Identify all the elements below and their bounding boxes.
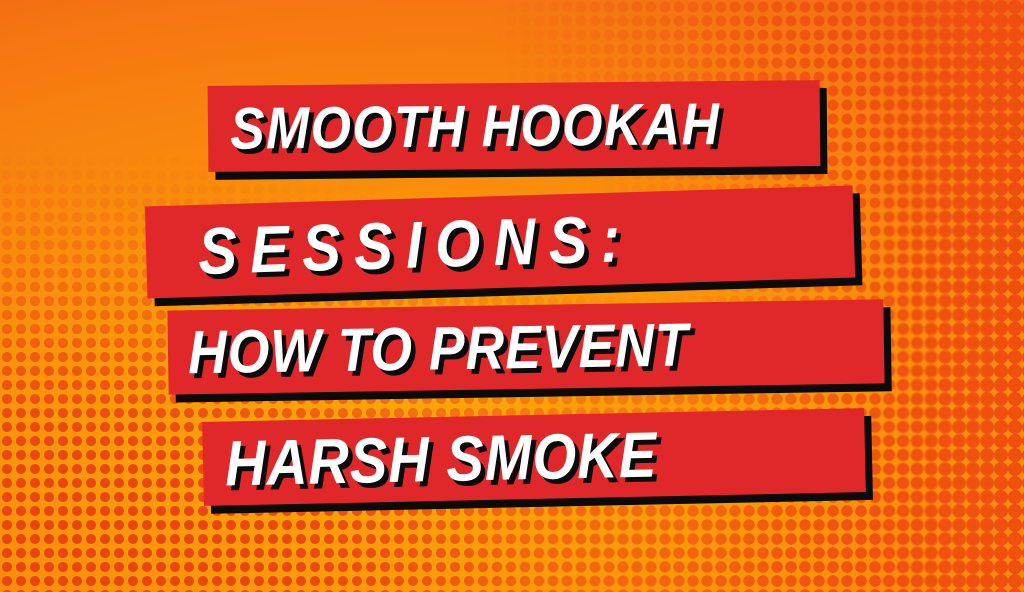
title-band-line-2: SESSIONS: bbox=[145, 186, 855, 299]
title-line-2-text: SESSIONS: bbox=[197, 205, 634, 284]
title-band-line-4: HARSH SMOKE bbox=[202, 408, 866, 506]
title-line-1-text: SMOOTH HOOKAH bbox=[230, 95, 721, 159]
blog-hero-banner: SMOOTH HOOKAH SESSIONS: HOW TO PREVENT H… bbox=[0, 0, 1024, 592]
title-band-line-3: HOW TO PREVENT bbox=[167, 299, 884, 394]
title-line-3-text: HOW TO PREVENT bbox=[188, 314, 689, 383]
title-stack: SMOOTH HOOKAH SESSIONS: HOW TO PREVENT H… bbox=[0, 0, 1024, 592]
title-line-4-text: HARSH SMOKE bbox=[224, 422, 657, 495]
title-band-line-1: SMOOTH HOOKAH bbox=[208, 80, 821, 172]
